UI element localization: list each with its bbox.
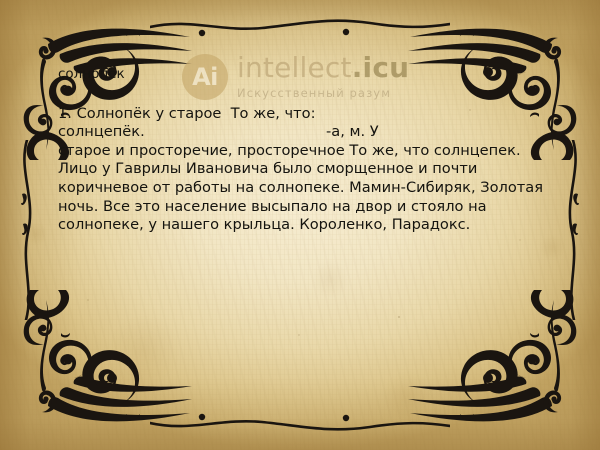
- entry-line-1: 1. Солнопёк у старое То же, что:: [58, 105, 554, 124]
- headword: солнопек: [58, 66, 554, 84]
- parchment-page: Ai intellect.icu Искусственный разум сол…: [0, 0, 600, 450]
- entry-definition-body: старое и просторечие, просторечное То же…: [58, 142, 548, 235]
- entry-grammar-note: -а, м. У: [326, 123, 379, 142]
- dictionary-entry: солнопек 1. Солнопёк у старое То же, что…: [58, 66, 554, 235]
- entry-text: 1. Солнопёк у старое То же, что: солнцеп…: [58, 105, 554, 235]
- entry-line-2: солнцепёк. -а, м. У: [58, 123, 554, 142]
- entry-line-2-left: солнцепёк.: [58, 123, 326, 142]
